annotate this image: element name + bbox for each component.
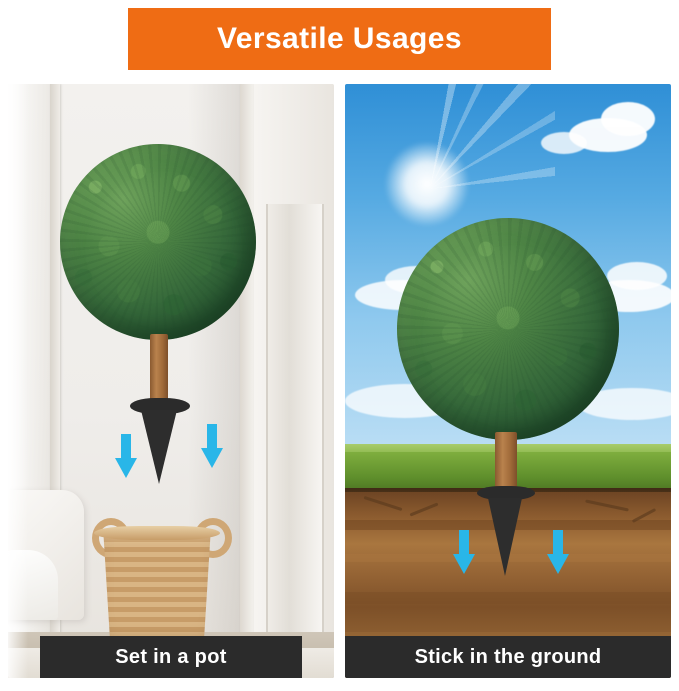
arrow-shaft <box>553 530 563 556</box>
caption-bar-indoor: Set in a pot <box>40 636 302 678</box>
cloud <box>541 132 587 154</box>
arrow-head <box>453 554 475 574</box>
fireplace-molding <box>266 204 324 634</box>
tree-trunk-outdoor <box>495 432 517 494</box>
arrow-shaft <box>459 530 469 556</box>
panel-indoor: Set in a pot <box>8 84 334 678</box>
header-banner: Versatile Usages <box>128 8 551 70</box>
spike-cone-outdoor <box>488 498 522 576</box>
spike-cone-indoor <box>141 410 177 484</box>
cloud <box>601 102 655 136</box>
sun-icon <box>385 142 469 226</box>
caption-text-indoor: Set in a pot <box>115 646 226 669</box>
topiary-foliage-outdoor <box>397 218 619 440</box>
sofa-arm <box>8 550 58 620</box>
arrow-shaft <box>207 424 217 450</box>
caption-text-outdoor: Stick in the ground <box>415 646 602 669</box>
arrow-head <box>201 448 223 468</box>
arrow-head <box>547 554 569 574</box>
arrow-shaft <box>121 434 131 460</box>
arrow-down-left-indoor <box>115 434 137 480</box>
arrow-down-left-outdoor <box>453 530 475 576</box>
wall-molding-right <box>240 84 254 644</box>
arrow-down-right-indoor <box>201 424 223 470</box>
basket-rim <box>94 526 220 540</box>
soil-band <box>345 592 671 604</box>
panel-container: Set in a pot <box>8 84 671 678</box>
arrow-head <box>115 458 137 478</box>
tree-trunk-indoor <box>150 334 168 406</box>
page-title: Versatile Usages <box>217 22 462 56</box>
topiary-foliage-indoor <box>60 144 256 340</box>
panel-outdoor: Stick in the ground <box>345 84 671 678</box>
caption-bar-outdoor: Stick in the ground <box>345 636 671 678</box>
wicker-basket <box>96 532 218 650</box>
arrow-down-right-outdoor <box>547 530 569 576</box>
